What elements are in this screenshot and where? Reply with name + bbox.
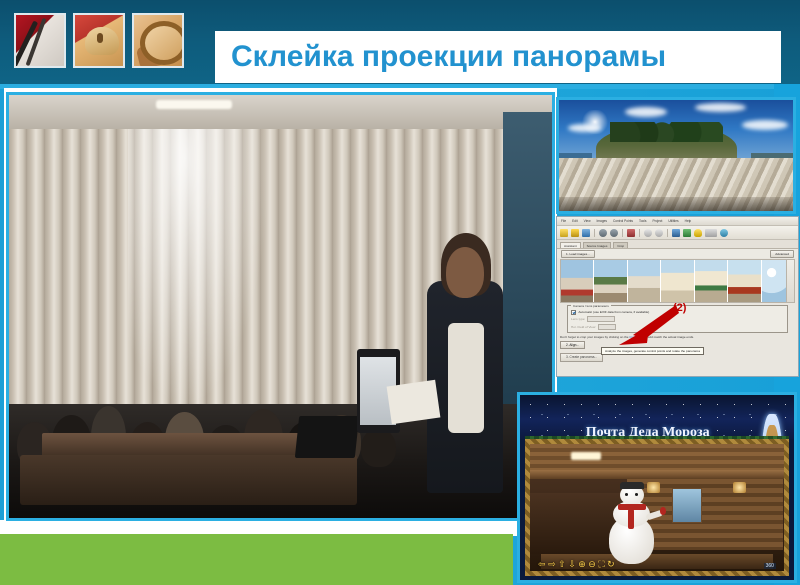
lens-type-label: Lens type: [571, 317, 585, 321]
header-thumbnail-group [14, 13, 184, 68]
source-thumbnail[interactable] [728, 260, 760, 302]
pan-left-button[interactable]: ⇦ [538, 560, 546, 569]
assistant-actions-row: 1. Load images... Advanced [557, 249, 798, 258]
zoom-out-icon[interactable] [655, 229, 663, 237]
pan-down-button[interactable]: ⇩ [568, 560, 576, 569]
fast-preview-icon[interactable] [705, 229, 717, 237]
conference-room-photo [6, 92, 555, 521]
table-row-front [20, 455, 357, 506]
menu-item-project[interactable]: Project [652, 219, 662, 223]
panorama-rocks [559, 158, 793, 211]
page-title: Склейка проекции панорамы [231, 40, 666, 74]
panorama-trees [610, 122, 722, 142]
computer-mouse-thumbnail [73, 13, 125, 68]
toolbar[interactable] [557, 226, 798, 240]
presentation-slide: Склейка проекции панорамы [0, 0, 800, 585]
tab-source-images[interactable]: Source Images [583, 242, 612, 248]
cabin-interior-scene [530, 444, 783, 571]
ceiling [9, 95, 552, 129]
ceiling-light-icon [571, 452, 601, 460]
new-project-icon[interactable] [560, 229, 568, 237]
speaker-blouse [448, 323, 483, 433]
optimizer-icon[interactable] [683, 229, 691, 237]
align-button-tooltip: Analyze the images, generate control poi… [601, 347, 704, 355]
add-images-icon[interactable] [627, 229, 635, 237]
control-points-icon[interactable] [672, 229, 680, 237]
camera-lens-group-title: Camera / lens parameters [571, 304, 611, 308]
tour-navigation-controls[interactable]: ⇦ ⇨ ⇧ ⇩ ⊕ ⊖ ⛶ ↻ [538, 560, 615, 569]
source-thumbnail[interactable] [594, 260, 626, 302]
speaker-head [446, 247, 484, 298]
cabin-window [672, 488, 702, 523]
lower-white-strip [0, 520, 513, 535]
crop-hint-suffix: , should match the actual image ends. [642, 335, 694, 339]
toolbar-separator [594, 229, 595, 237]
hfov-row[interactable]: Hor. Field of View: [571, 324, 784, 330]
zoom-in-icon[interactable] [644, 229, 652, 237]
hfov-label: Hor. Field of View: [571, 325, 596, 329]
panorama-cloud [742, 120, 789, 130]
spherical-panorama-photo [556, 97, 796, 214]
source-thumbnail[interactable] [695, 260, 727, 302]
checkbox-checked-icon[interactable] [571, 310, 576, 315]
headphones-thumbnail [132, 13, 184, 68]
toolbar-separator [639, 229, 640, 237]
zoom-in-button[interactable]: ⊕ [578, 560, 586, 569]
menu-item-view[interactable]: View [584, 219, 591, 223]
lens-type-select[interactable] [587, 316, 615, 322]
snowman-figure [606, 485, 657, 564]
crop-hint-prefix: Don't forget to crop your images by clic… [560, 335, 629, 339]
snowman-hat [620, 482, 644, 489]
source-thumbnail[interactable] [628, 260, 660, 302]
crop-hint-text: Don't forget to crop your images by clic… [560, 335, 795, 339]
title-plate: Склейка проекции панорамы [215, 31, 781, 83]
source-thumbnail[interactable] [661, 260, 693, 302]
menu-bar[interactable]: File Edit View Images Control Points Too… [557, 217, 798, 226]
menu-item-images[interactable]: Images [597, 219, 607, 223]
source-thumbnail[interactable] [561, 260, 593, 302]
tab-crop[interactable]: Crop [613, 242, 628, 248]
panorama-cloud [625, 107, 667, 117]
preview-icon[interactable] [694, 229, 702, 237]
fullscreen-button[interactable]: ⛶ [598, 560, 604, 569]
menu-item-edit[interactable]: Edit [572, 219, 578, 223]
crop-tab-link[interactable]: Crop Tab [629, 335, 642, 339]
undo-icon[interactable] [599, 229, 607, 237]
source-image-thumbnail-strip[interactable] [560, 259, 795, 303]
right-wall [503, 112, 552, 408]
settings-icon[interactable] [720, 229, 728, 237]
menu-item-tools[interactable]: Tools [639, 219, 646, 223]
save-project-icon[interactable] [582, 229, 590, 237]
speaker-papers [387, 379, 441, 423]
menu-item-file[interactable]: File [561, 219, 566, 223]
snowman-mitten [660, 507, 667, 515]
tab-bar[interactable]: Assistant Source Images Crop [557, 240, 798, 249]
create-panorama-button[interactable]: 3. Create panorama... [560, 353, 603, 361]
load-images-button[interactable]: 1. Load images... [561, 250, 595, 258]
pan-right-button[interactable]: ⇨ [548, 560, 556, 569]
advanced-button[interactable]: Advanced [770, 250, 794, 258]
redo-icon[interactable] [610, 229, 618, 237]
step-marker-2: (2) [673, 302, 686, 314]
cabin-beam [530, 470, 783, 479]
ceiling-light [156, 100, 232, 109]
menu-item-control-points[interactable]: Control Points [613, 219, 633, 223]
menu-item-utilities[interactable]: Utilities [668, 219, 678, 223]
lens-type-row[interactable]: Lens type: [571, 316, 784, 322]
pen-on-paper-thumbnail [14, 13, 66, 68]
hugin-application-window[interactable]: File Edit View Images Control Points Too… [556, 216, 799, 377]
automatic-exif-label: Automatic (use EXIF data from camera, if… [578, 310, 649, 314]
toolbar-separator [622, 229, 623, 237]
virtual-tour-viewer[interactable]: Дед Мороз Почта Деда Мороза [517, 392, 797, 583]
hfov-input[interactable] [598, 324, 616, 330]
wall-lamp-icon [733, 482, 746, 492]
zoom-out-button[interactable]: ⊖ [588, 560, 596, 569]
panorama-frame[interactable]: ⇦ ⇨ ⇧ ⇩ ⊕ ⊖ ⛶ ↻ 360 [525, 439, 788, 576]
align-images-button[interactable]: 2. Align... [560, 341, 585, 349]
menu-item-help[interactable]: Help [685, 219, 692, 223]
tour-badge: 360 [764, 563, 776, 569]
snowman-eye [625, 493, 629, 496]
green-footer-bar [0, 534, 513, 585]
toolbar-separator [667, 229, 668, 237]
pan-up-button[interactable]: ⇧ [558, 560, 566, 569]
laptop-on-desk [295, 416, 359, 458]
autorotate-button[interactable]: ↻ [607, 560, 615, 569]
thumbnail-scrollbar[interactable] [786, 260, 794, 302]
open-project-icon[interactable] [571, 229, 579, 237]
snowman-scarf-tail [628, 509, 634, 529]
tab-assistant[interactable]: Assistant [560, 242, 581, 248]
